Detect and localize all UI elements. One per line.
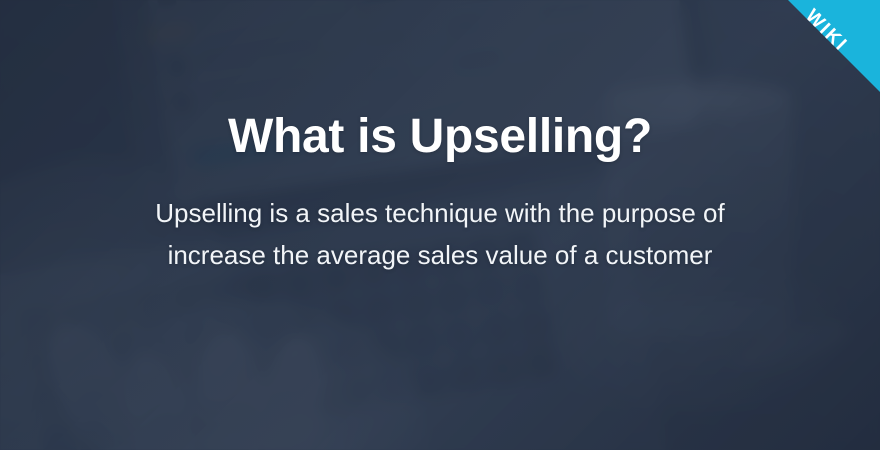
hero-content: What is Upselling? Upselling is a sales … [0, 0, 880, 450]
subtitle-line-1: Upselling is a sales technique with the … [155, 192, 724, 234]
page-subtitle: Upselling is a sales technique with the … [155, 192, 724, 276]
wiki-hero-banner: WIKI What is Upselling? Upselling is a s… [0, 0, 880, 450]
page-title: What is Upselling? [228, 112, 652, 162]
subtitle-line-2: increase the average sales value of a cu… [155, 234, 724, 276]
